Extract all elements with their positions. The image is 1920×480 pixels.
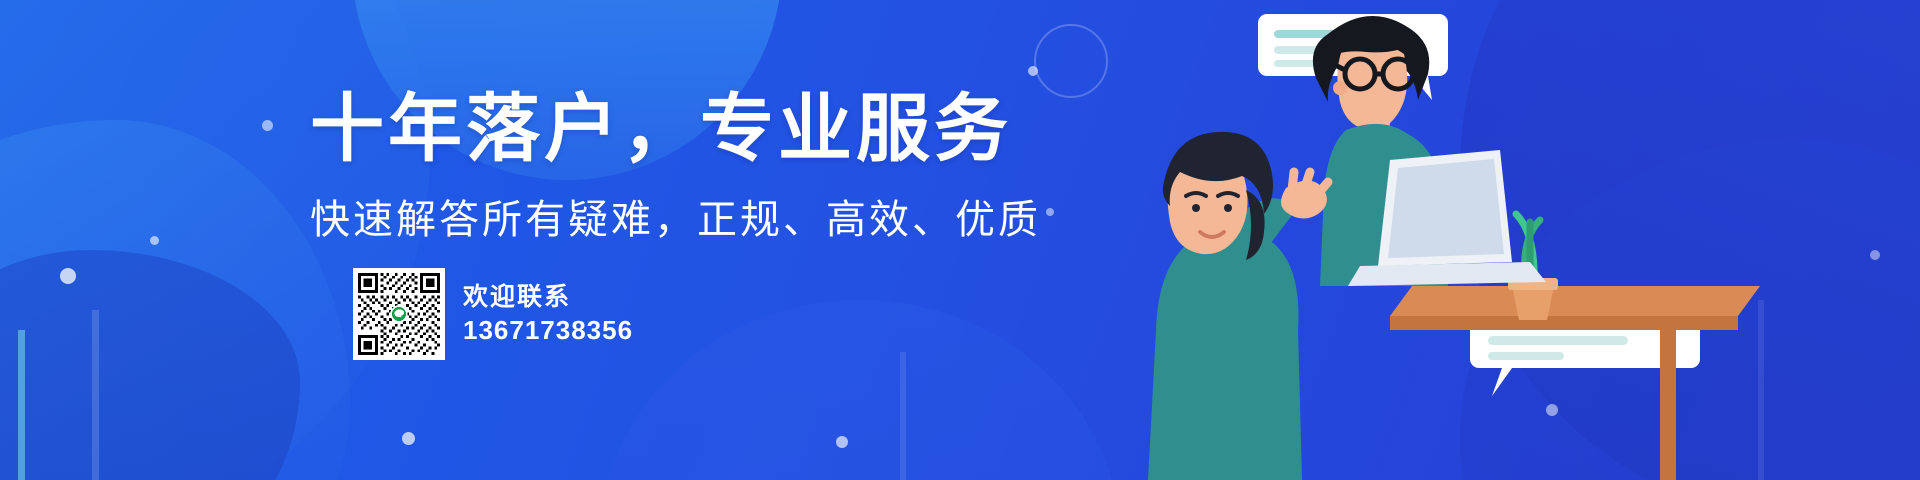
decorative-bar [18,330,25,480]
contact-text: 欢迎联系 13671738356 [463,285,633,343]
banner-subline: 快速解答所有疑难，正规、高效、优质 [310,200,1070,240]
decorative-bar [900,352,906,480]
banner-headline: 十年落户，专业服务 [310,92,1070,166]
background-blob-bottom-mid [600,300,1120,480]
background-blob-left-mid [0,120,350,480]
qr-code-image [358,273,440,355]
banner-copy: 十年落户，专业服务 快速解答所有疑难，正规、高效、优质 [310,92,1070,240]
person-seated [1148,132,1328,480]
illustration-scene [1060,0,1920,480]
contact-invite-label: 欢迎联系 [463,285,633,310]
desk [1390,286,1760,480]
decorative-dot [262,120,273,131]
decorative-dot [836,436,848,448]
background-blob-left-dark [0,250,300,480]
decorative-dot [150,236,159,245]
qr-code[interactable] [353,268,445,360]
contact-phone-number: 13671738356 [463,317,633,343]
contact-block: 欢迎联系 13671738356 [353,268,633,360]
decorative-dot [60,268,76,284]
decorative-bar [92,310,99,480]
promo-banner: 十年落户，专业服务 快速解答所有疑难，正规、高效、优质 [0,0,1920,480]
decorative-dot [1028,66,1038,76]
illustration [1060,0,1920,480]
decorative-dot [402,432,415,445]
